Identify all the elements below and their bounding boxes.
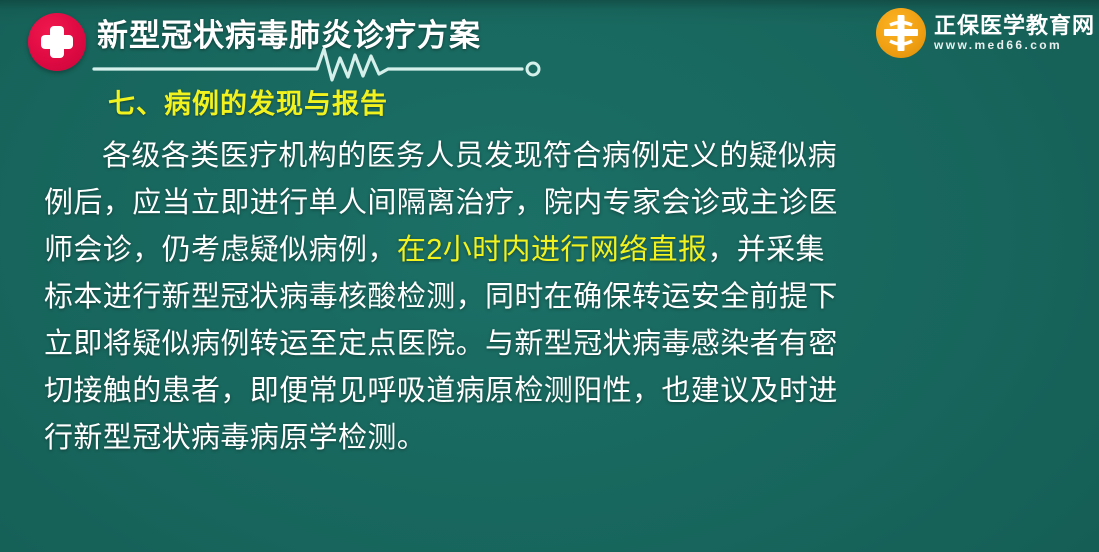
slide-header: 新型冠状病毒肺炎诊疗方案 正保医学教育网 www.med66.com: [0, 0, 1099, 86]
highlighted-text: 在2小时内进行网络直报: [397, 234, 708, 266]
paragraph-text: ，并采集: [707, 234, 825, 266]
paragraph-line: 例后，应当立即进行单人间隔离治疗，院内专家会诊或主诊医: [44, 180, 834, 227]
paragraph-text: 各级各类医疗机构的医务人员发现符合病例定义的疑似病: [102, 140, 837, 172]
ekg-heartbeat-line-icon: [92, 44, 552, 86]
paragraph-line: 各级各类医疗机构的医务人员发现符合病例定义的疑似病: [44, 133, 834, 180]
paragraph-text: 标本进行新型冠状病毒核酸检测，同时在确保转运安全前提下: [44, 281, 838, 313]
paragraph-text: 例后，应当立即进行单人间隔离治疗，院内专家会诊或主诊医: [44, 187, 838, 219]
paragraph-line: 切接触的患者，即便常见呼吸道病原检测阳性，也建议及时进: [44, 368, 834, 415]
paragraph-text: 切接触的患者，即便常见呼吸道病原检测阳性，也建议及时进: [44, 375, 838, 407]
paragraph-text: 行新型冠状病毒病原学检测。: [44, 422, 426, 454]
medical-cross-icon: [28, 13, 86, 71]
brand-logo: 正保医学教育网 www.med66.com: [876, 4, 1095, 62]
section-heading: 七、病例的发现与报告: [108, 86, 388, 122]
body-paragraph: 各级各类医疗机构的医务人员发现符合病例定义的疑似病例后，应当立即进行单人间隔离治…: [44, 133, 834, 462]
paragraph-text: 立即将疑似病例转运至定点医院。与新型冠状病毒感染者有密: [44, 328, 838, 360]
logo-website: www.med66.com: [934, 38, 1095, 53]
paragraph-line: 行新型冠状病毒病原学检测。: [44, 415, 834, 462]
presentation-slide: 新型冠状病毒肺炎诊疗方案 正保医学教育网 www.med66.com 七、病例的…: [0, 0, 1099, 552]
paragraph-line: 立即将疑似病例转运至定点医院。与新型冠状病毒感染者有密: [44, 321, 834, 368]
med66-cross-circle-icon: [876, 8, 926, 58]
paragraph-line: 师会诊，仍考虑疑似病例，在2小时内进行网络直报，并采集: [44, 227, 834, 274]
paragraph-text: 师会诊，仍考虑疑似病例，: [44, 234, 397, 266]
logo-name: 正保医学教育网: [934, 13, 1095, 38]
paragraph-line: 标本进行新型冠状病毒核酸检测，同时在确保转运安全前提下: [44, 274, 834, 321]
